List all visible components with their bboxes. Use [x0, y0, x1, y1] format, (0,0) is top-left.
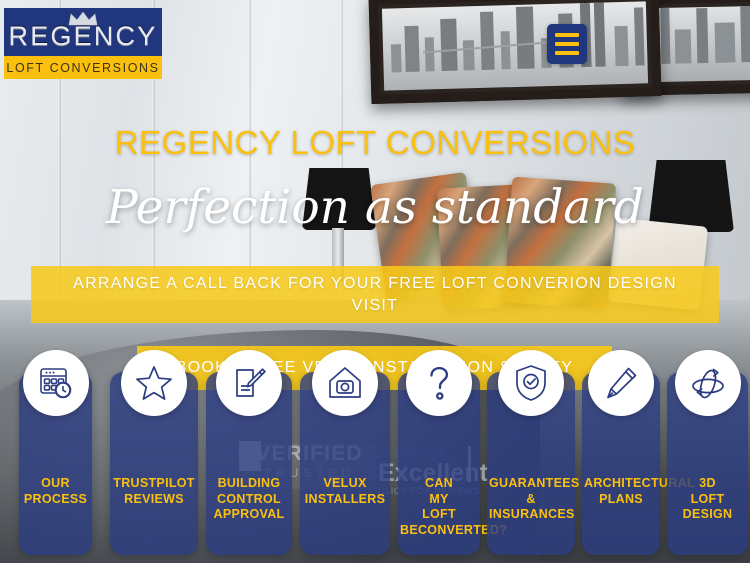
service-card-3d[interactable]: 3DLOFTDESIGN — [667, 372, 748, 555]
site-logo[interactable]: REGENCY LOFT CONVERSIONS — [4, 8, 162, 79]
calendar-clock-icon — [23, 350, 89, 416]
service-card-velux[interactable]: VELUXINSTALLERS — [300, 372, 390, 555]
page-title: REGENCY LOFT CONVERSIONS — [0, 124, 750, 162]
service-card-label: OURPROCESS — [21, 476, 90, 507]
crown-icon — [68, 12, 98, 26]
framed-picture-skyline — [369, 0, 662, 104]
service-card-label: BUILDINGCONTROLAPPROVAL — [208, 476, 290, 523]
service-card-label: VELUXINSTALLERS — [302, 476, 388, 507]
service-card-guarantees[interactable]: GUARANTEES&INSURANCES — [487, 372, 575, 555]
service-card-trustpilot[interactable]: TRUSTPILOTREVIEWS — [110, 372, 198, 555]
logo-bottom-block: LOFT CONVERSIONS — [4, 56, 162, 79]
star-icon — [121, 350, 187, 416]
rotate-3d-icon — [675, 350, 741, 416]
service-cards-row: OURPROCESSTRUSTPILOTREVIEWSBUILDINGCONTR… — [0, 372, 750, 563]
pen-icon — [588, 350, 654, 416]
logo-top-block: REGENCY — [4, 8, 162, 56]
page-subtitle: Perfection as standard — [0, 180, 750, 235]
menu-bar — [555, 51, 579, 55]
house-window-icon — [312, 350, 378, 416]
menu-bar — [555, 42, 579, 46]
service-card-label: CANMYLOFTBECONVERTED? — [400, 476, 478, 538]
shield-check-icon — [498, 350, 564, 416]
hamburger-menu-icon[interactable] — [547, 24, 587, 64]
service-card-our[interactable]: OURPROCESS — [19, 372, 92, 555]
logo-tagline: LOFT CONVERSIONS — [6, 61, 159, 75]
question-mark-icon — [406, 350, 472, 416]
menu-bar — [555, 33, 579, 37]
cta-callback-banner[interactable]: ARRANGE A CALL BACK FOR YOUR FREE LOFT C… — [31, 266, 719, 323]
service-card-architectural[interactable]: ARCHITECTURALPLANS — [582, 372, 660, 555]
service-card-label: ARCHITECTURALPLANS — [584, 476, 658, 507]
cta-callback-label: ARRANGE A CALL BACK FOR YOUR FREE LOFT C… — [31, 273, 719, 317]
service-card-label: 3DLOFTDESIGN — [669, 476, 746, 523]
service-card-can[interactable]: CANMYLOFTBECONVERTED? — [398, 372, 480, 555]
service-card-building[interactable]: BUILDINGCONTROLAPPROVAL — [206, 372, 292, 555]
service-card-label: TRUSTPILOTREVIEWS — [112, 476, 196, 507]
document-pencil-icon — [216, 350, 282, 416]
service-card-label: GUARANTEES&INSURANCES — [489, 476, 573, 523]
